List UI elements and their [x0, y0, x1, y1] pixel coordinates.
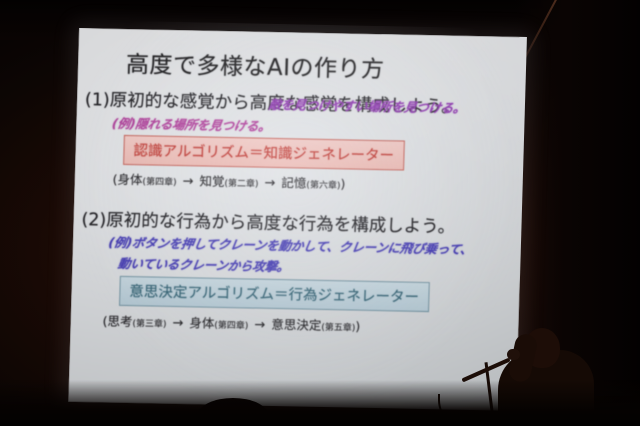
chain-chapter: (第二章)	[224, 179, 258, 190]
chain-chapter: (第五章)	[321, 323, 355, 334]
chain-chapter: (第四章)	[214, 321, 248, 332]
chain-term: 身体	[117, 172, 142, 187]
chain-close-paren: )	[355, 319, 360, 334]
chain-term: 思考	[107, 314, 132, 329]
section-1-algorithm-box: 認識アルゴリズム＝知識ジェネレーター	[123, 135, 404, 171]
chain-arrow: →	[258, 176, 281, 191]
section-1-chapter-chain: (身体(第四章)→知覚(第二章)→記憶(第六章))	[112, 169, 345, 193]
chain-chapter: (第四章)	[142, 177, 176, 188]
right-wall-shadow	[515, 0, 640, 426]
chain-arrow: →	[166, 316, 189, 331]
floor-shadow	[0, 380, 640, 426]
chain-term: 身体	[189, 315, 214, 330]
slide-content: 高度で多様なAIの作り方 (1)原初的な感覚から高度な感覚を構成しよう。 敵を見…	[68, 28, 527, 411]
chain-arrow: →	[248, 317, 271, 332]
section-1-annotation-top: 敵を見つけやすい場所を見つける。	[267, 94, 467, 117]
section-2-algorithm-box: 意思決定アルゴリズム＝行為ジェネレーター	[119, 276, 429, 312]
chain-term: 意思決定	[271, 317, 321, 333]
section-1-annotation-example: (例)隠れる場所を見つける。	[111, 113, 272, 135]
chain-chapter: (第六章)	[306, 181, 340, 192]
chain-close-paren: )	[340, 176, 345, 191]
section-2-chapter-chain: (思考(第三章)→身体(第四章)→意思決定(第五章))	[102, 311, 360, 335]
projection-screen: 高度で多様なAIの作り方 (1)原初的な感覚から高度な感覚を構成しよう。 敵を見…	[68, 28, 527, 411]
chain-term: 知覚	[199, 173, 224, 188]
slide-title: 高度で多様なAIの作り方	[126, 45, 385, 84]
section-2-annotation-line-2: 動いているクレーンから攻撃。	[117, 253, 291, 275]
chain-arrow: →	[176, 174, 199, 189]
chain-term: 記憶	[281, 175, 306, 190]
chain-chapter: (第三章)	[132, 319, 166, 330]
presentation-photo: 高度で多様なAIの作り方 (1)原初的な感覚から高度な感覚を構成しよう。 敵を見…	[0, 0, 640, 426]
